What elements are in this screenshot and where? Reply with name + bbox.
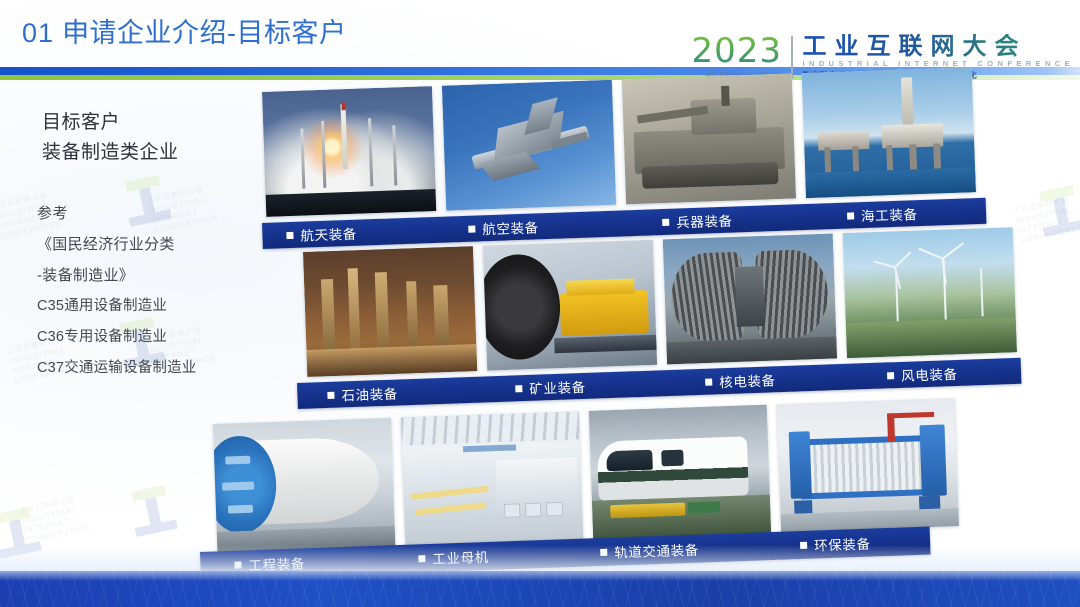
category-image-machine-tool[interactable] <box>401 411 583 545</box>
filter-press-photo <box>777 398 959 532</box>
lead-line-1: 目标客户 <box>42 108 179 138</box>
steam-turbine-rotor-photo <box>663 234 837 365</box>
reference-item-c37: C37交通运输设备制造业 <box>37 353 197 384</box>
page-title: 01 申请企业介绍-目标客户 <box>22 16 347 50</box>
lead-line-2: 装备制造类企业 <box>42 138 179 168</box>
bottom-fade <box>0 545 1080 571</box>
category-image-nuclear-turbine[interactable] <box>663 234 837 365</box>
caption-aviation: 航空装备 <box>468 216 539 238</box>
page-title-text: 申请企业介绍-目标客户 <box>62 18 347 48</box>
category-image-mining[interactable] <box>483 240 657 371</box>
category-image-military-vehicle[interactable] <box>622 74 796 205</box>
category-image-rocket[interactable] <box>262 86 436 217</box>
tunnel-boring-machine-photo <box>213 418 395 552</box>
offshore-oil-platform-photo <box>802 67 976 198</box>
petrochemical-refinery-photo <box>303 246 477 377</box>
reference-item-c36: C36专用设备制造业 <box>37 322 197 353</box>
bullet-square-icon <box>662 218 669 225</box>
caption-marine-engineering: 海工装备 <box>847 203 918 225</box>
logo-separator <box>791 36 793 78</box>
bullet-square-icon <box>887 372 894 379</box>
caption-mining: 矿业装备 <box>515 376 586 398</box>
high-speed-train-photo <box>589 405 771 539</box>
watermark-text: 工业互联网大会 INDUSTRIAL INTERNET CONFERENCE <box>1013 194 1080 246</box>
watermark-logo-icon <box>121 481 185 545</box>
bullet-square-icon <box>327 391 334 398</box>
lead-heading: 目标客户 装备制造类企业 <box>42 108 179 168</box>
reference-source-line-1: 《国民经济行业分类 <box>37 229 197 260</box>
bottom-band <box>0 571 1080 607</box>
rocket-launch-photo <box>262 86 436 217</box>
reference-list: 参考 《国民经济行业分类 -装备制造业》 C35通用设备制造业 C36专用设备制… <box>37 198 197 384</box>
category-image-fighter-jet[interactable] <box>442 80 616 211</box>
category-image-tbm[interactable] <box>213 418 395 552</box>
category-image-filter-press[interactable] <box>777 398 959 532</box>
category-image-refinery[interactable] <box>303 246 477 377</box>
bullet-square-icon <box>515 385 522 392</box>
category-image-train[interactable] <box>589 405 771 539</box>
logo-chinese-name: 工业互联网大会 <box>803 34 1074 59</box>
caption-petroleum: 石油装备 <box>327 382 398 404</box>
watermark-text: 工业互联网大会 INDUSTRIAL INTERNET CONFERENCE <box>19 494 91 546</box>
wind-farm-photo <box>843 227 1017 358</box>
category-row-2 <box>303 227 1017 377</box>
military-vehicle-photo <box>622 74 796 205</box>
bottom-band-glow <box>0 571 1080 581</box>
page-title-number: 01 <box>22 18 54 48</box>
watermark-logo-icon <box>1029 181 1080 245</box>
reference-heading: 参考 <box>37 198 197 229</box>
reference-source-line-2: -装备制造业》 <box>37 260 197 291</box>
logo-year: 2023 <box>692 34 783 68</box>
bullet-square-icon <box>705 378 712 385</box>
bullet-square-icon <box>847 212 854 219</box>
fighter-jet-photo <box>442 80 616 211</box>
caption-wind-power: 风电装备 <box>887 363 958 385</box>
presentation-slide: 工业互联网大会 INDUSTRIAL INTERNET CONFERENCE 工… <box>0 0 1080 607</box>
caption-aerospace: 航天装备 <box>286 223 357 245</box>
bullet-square-icon <box>286 231 293 238</box>
bullet-square-icon <box>468 225 475 232</box>
category-image-offshore-platform[interactable] <box>802 67 976 198</box>
reference-item-c35: C35通用设备制造业 <box>37 291 197 322</box>
category-row-1 <box>262 67 976 217</box>
category-image-wind-farm[interactable] <box>843 227 1017 358</box>
machine-tool-workshop-photo <box>401 411 583 545</box>
logo-year-block: 2023 中国·苏州 5月11日-13日 <box>692 34 792 79</box>
mining-roadheader-photo <box>483 240 657 371</box>
caption-nuclear-power: 核电装备 <box>705 369 776 391</box>
caption-weaponry: 兵器装备 <box>662 210 733 232</box>
